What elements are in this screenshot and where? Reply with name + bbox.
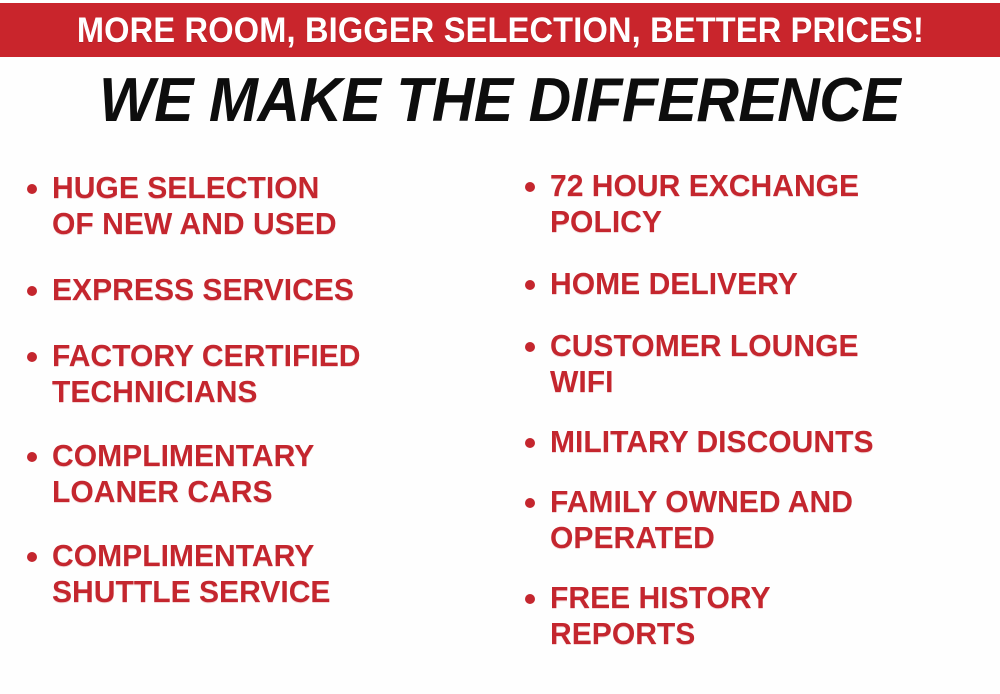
benefits-column-right: 72 HOUR EXCHANGE POLICY HOME DELIVERY CU… <box>512 160 1000 652</box>
list-item-label: COMPLIMENTARY LOANER CARS <box>52 438 487 510</box>
list-item-label: COMPLIMENTARY SHUTTLE SERVICE <box>52 538 487 610</box>
list-item-label: CUSTOMER LOUNGE WIFI <box>550 328 987 400</box>
list-item: 72 HOUR EXCHANGE POLICY <box>512 168 1000 240</box>
bullet-dot-icon <box>525 342 535 352</box>
list-item-label: EXPRESS SERVICES <box>52 272 487 308</box>
list-item-label: FAMILY OWNED AND OPERATED <box>550 484 987 556</box>
bullet-dot-icon <box>525 280 535 290</box>
list-item-label: FACTORY CERTIFIED TECHNICIANS <box>52 338 487 410</box>
list-item: FACTORY CERTIFIED TECHNICIANS <box>14 338 500 410</box>
list-item-label: FREE HISTORY REPORTS <box>550 580 987 652</box>
bullet-dot-icon <box>525 182 535 192</box>
bullet-dot-icon <box>27 352 37 362</box>
bullet-dot-icon <box>525 438 535 448</box>
bullet-dot-icon <box>27 184 37 194</box>
list-item-label: 72 HOUR EXCHANGE POLICY <box>550 168 987 240</box>
list-item-label: HOME DELIVERY <box>550 266 987 302</box>
bullet-dot-icon <box>27 552 37 562</box>
bullet-dot-icon <box>27 452 37 462</box>
list-item: EXPRESS SERVICES <box>14 272 500 308</box>
top-banner: MORE ROOM, BIGGER SELECTION, BETTER PRIC… <box>0 3 1000 57</box>
bullet-dot-icon <box>525 594 535 604</box>
list-item: FREE HISTORY REPORTS <box>512 580 1000 652</box>
list-item: HOME DELIVERY <box>512 266 1000 302</box>
benefits-columns: HUGE SELECTION OF NEW AND USED EXPRESS S… <box>0 160 1000 694</box>
list-item: HUGE SELECTION OF NEW AND USED <box>14 170 500 242</box>
list-item: COMPLIMENTARY SHUTTLE SERVICE <box>14 538 500 610</box>
dealership-benefits-poster: MORE ROOM, BIGGER SELECTION, BETTER PRIC… <box>0 0 1000 694</box>
list-item: FAMILY OWNED AND OPERATED <box>512 484 1000 556</box>
banner-headline-text: MORE ROOM, BIGGER SELECTION, BETTER PRIC… <box>76 13 923 48</box>
list-item-label: MILITARY DISCOUNTS <box>550 424 987 460</box>
list-item-label: HUGE SELECTION OF NEW AND USED <box>52 170 487 242</box>
headline-container: WE MAKE THE DIFFERENCE <box>0 67 1000 135</box>
list-item: CUSTOMER LOUNGE WIFI <box>512 328 1000 400</box>
bullet-dot-icon <box>27 286 37 296</box>
list-item: MILITARY DISCOUNTS <box>512 424 1000 460</box>
bullet-dot-icon <box>525 498 535 508</box>
page-title: WE MAKE THE DIFFERENCE <box>99 67 900 135</box>
list-item: COMPLIMENTARY LOANER CARS <box>14 438 500 510</box>
benefits-column-left: HUGE SELECTION OF NEW AND USED EXPRESS S… <box>14 160 500 610</box>
